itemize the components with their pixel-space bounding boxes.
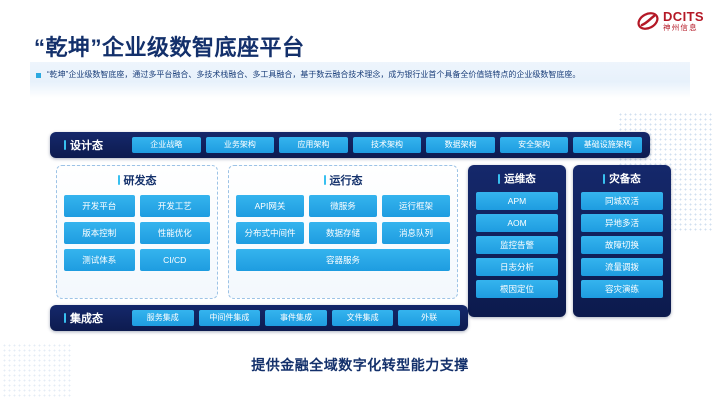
dev-cell[interactable]: 开发工艺	[140, 195, 211, 217]
integration-lane-title: 集成态	[58, 310, 132, 326]
integration-chip[interactable]: 中间件集成	[199, 310, 261, 326]
brand-name-cn: 神州信息	[663, 24, 704, 32]
design-lane-title: 设计态	[58, 137, 132, 153]
disaster-recovery-column-title: 灾备态	[581, 171, 663, 186]
page-subtitle-text: “乾坤”企业级数智底座，通过多平台融合、多技术栈融合、多工具融合，基于数云融合技…	[47, 70, 580, 80]
accent-bar-icon	[118, 175, 120, 185]
design-lane: 设计态 企业战略 业务架构 应用架构 技术架构 数据架构 安全架构 基础设施架构	[50, 132, 650, 158]
dr-cell[interactable]: 流量调拨	[581, 258, 663, 276]
runtime-cell[interactable]: 运行框架	[382, 195, 450, 217]
dev-panel-items: 开发平台 开发工艺 版本控制 性能优化 测试体系 CI/CD	[64, 195, 210, 271]
ops-cell[interactable]: APM	[476, 192, 558, 210]
square-bullet-icon	[36, 73, 41, 78]
design-lane-items: 企业战略 业务架构 应用架构 技术架构 数据架构 安全架构 基础设施架构	[132, 137, 642, 153]
dev-panel: 研发态 开发平台 开发工艺 版本控制 性能优化 测试体系 CI/CD	[56, 165, 218, 299]
design-chip[interactable]: 数据架构	[426, 137, 495, 153]
dr-cell[interactable]: 同城双活	[581, 192, 663, 210]
integration-lane: 集成态 服务集成 中间件集成 事件集成 文件集成 外联	[50, 305, 468, 331]
runtime-cell-container-service[interactable]: 容器服务	[236, 249, 450, 271]
dr-cell[interactable]: 故障切换	[581, 236, 663, 254]
disaster-recovery-column-title-text: 灾备态	[609, 171, 641, 186]
integration-lane-title-text: 集成态	[70, 310, 103, 326]
runtime-cell[interactable]: 微服务	[309, 195, 377, 217]
page-title: “乾坤”企业级数智底座平台	[34, 30, 305, 62]
runtime-cell[interactable]: 分布式中间件	[236, 222, 304, 244]
dev-panel-title-text: 研发态	[124, 172, 157, 188]
dev-cell[interactable]: 版本控制	[64, 222, 135, 244]
dr-cell[interactable]: 容灾演练	[581, 280, 663, 298]
ops-cell[interactable]: 根因定位	[476, 280, 558, 298]
footer-caption: 提供金融全域数字化转型能力支撑	[0, 355, 720, 375]
integration-chip[interactable]: 外联	[398, 310, 460, 326]
runtime-cell[interactable]: API网关	[236, 195, 304, 217]
ops-column-title: 运维态	[476, 171, 558, 186]
integration-chip[interactable]: 事件集成	[265, 310, 327, 326]
runtime-panel: 运行态 API网关 微服务 运行框架 分布式中间件 数据存储 消息队列 容器服务	[228, 165, 458, 299]
page-subtitle: “乾坤”企业级数智底座，通过多平台融合、多技术栈融合、多工具融合，基于数云融合技…	[36, 70, 580, 80]
accent-bar-icon	[64, 313, 66, 323]
runtime-cell[interactable]: 消息队列	[382, 222, 450, 244]
design-chip[interactable]: 基础设施架构	[573, 137, 642, 153]
dev-cell[interactable]: 测试体系	[64, 249, 135, 271]
integration-chip[interactable]: 文件集成	[332, 310, 394, 326]
dcits-swoosh-icon	[637, 10, 659, 32]
accent-bar-icon	[498, 174, 500, 184]
accent-bar-icon	[603, 174, 605, 184]
platform-architecture-diagram: 设计态 企业战略 业务架构 应用架构 技术架构 数据架构 安全架构 基础设施架构…	[38, 132, 683, 342]
ops-column: 运维态 APM AOM 监控告警 日志分析 根因定位	[468, 165, 566, 317]
design-chip[interactable]: 应用架构	[279, 137, 348, 153]
integration-chip[interactable]: 服务集成	[132, 310, 194, 326]
brand-name-en: DCITS	[663, 10, 704, 23]
runtime-cell[interactable]: 数据存储	[309, 222, 377, 244]
design-chip[interactable]: 技术架构	[353, 137, 422, 153]
accent-bar-icon	[324, 175, 326, 185]
design-chip[interactable]: 安全架构	[500, 137, 569, 153]
dev-cell[interactable]: 性能优化	[140, 222, 211, 244]
design-chip[interactable]: 业务架构	[206, 137, 275, 153]
disaster-recovery-column: 灾备态 同城双活 异地多活 故障切换 流量调拨 容灾演练	[573, 165, 671, 317]
dev-panel-title: 研发态	[64, 172, 210, 188]
dev-cell[interactable]: 开发平台	[64, 195, 135, 217]
ops-column-title-text: 运维态	[504, 171, 536, 186]
ops-column-items: APM AOM 监控告警 日志分析 根因定位	[476, 192, 558, 298]
ops-cell[interactable]: AOM	[476, 214, 558, 232]
design-lane-title-text: 设计态	[70, 137, 103, 153]
runtime-panel-title-text: 运行态	[330, 172, 363, 188]
design-chip[interactable]: 企业战略	[132, 137, 201, 153]
ops-cell[interactable]: 监控告警	[476, 236, 558, 254]
brand-logo: DCITS 神州信息	[637, 10, 704, 32]
runtime-panel-items: API网关 微服务 运行框架 分布式中间件 数据存储 消息队列 容器服务	[236, 195, 450, 271]
integration-lane-items: 服务集成 中间件集成 事件集成 文件集成 外联	[132, 310, 460, 326]
header-background-band	[30, 62, 690, 98]
dev-cell[interactable]: CI/CD	[140, 249, 211, 271]
dr-cell[interactable]: 异地多活	[581, 214, 663, 232]
disaster-recovery-column-items: 同城双活 异地多活 故障切换 流量调拨 容灾演练	[581, 192, 663, 298]
brand-wordmark: DCITS 神州信息	[663, 10, 704, 32]
runtime-panel-title: 运行态	[236, 172, 450, 188]
ops-cell[interactable]: 日志分析	[476, 258, 558, 276]
accent-bar-icon	[64, 140, 66, 150]
